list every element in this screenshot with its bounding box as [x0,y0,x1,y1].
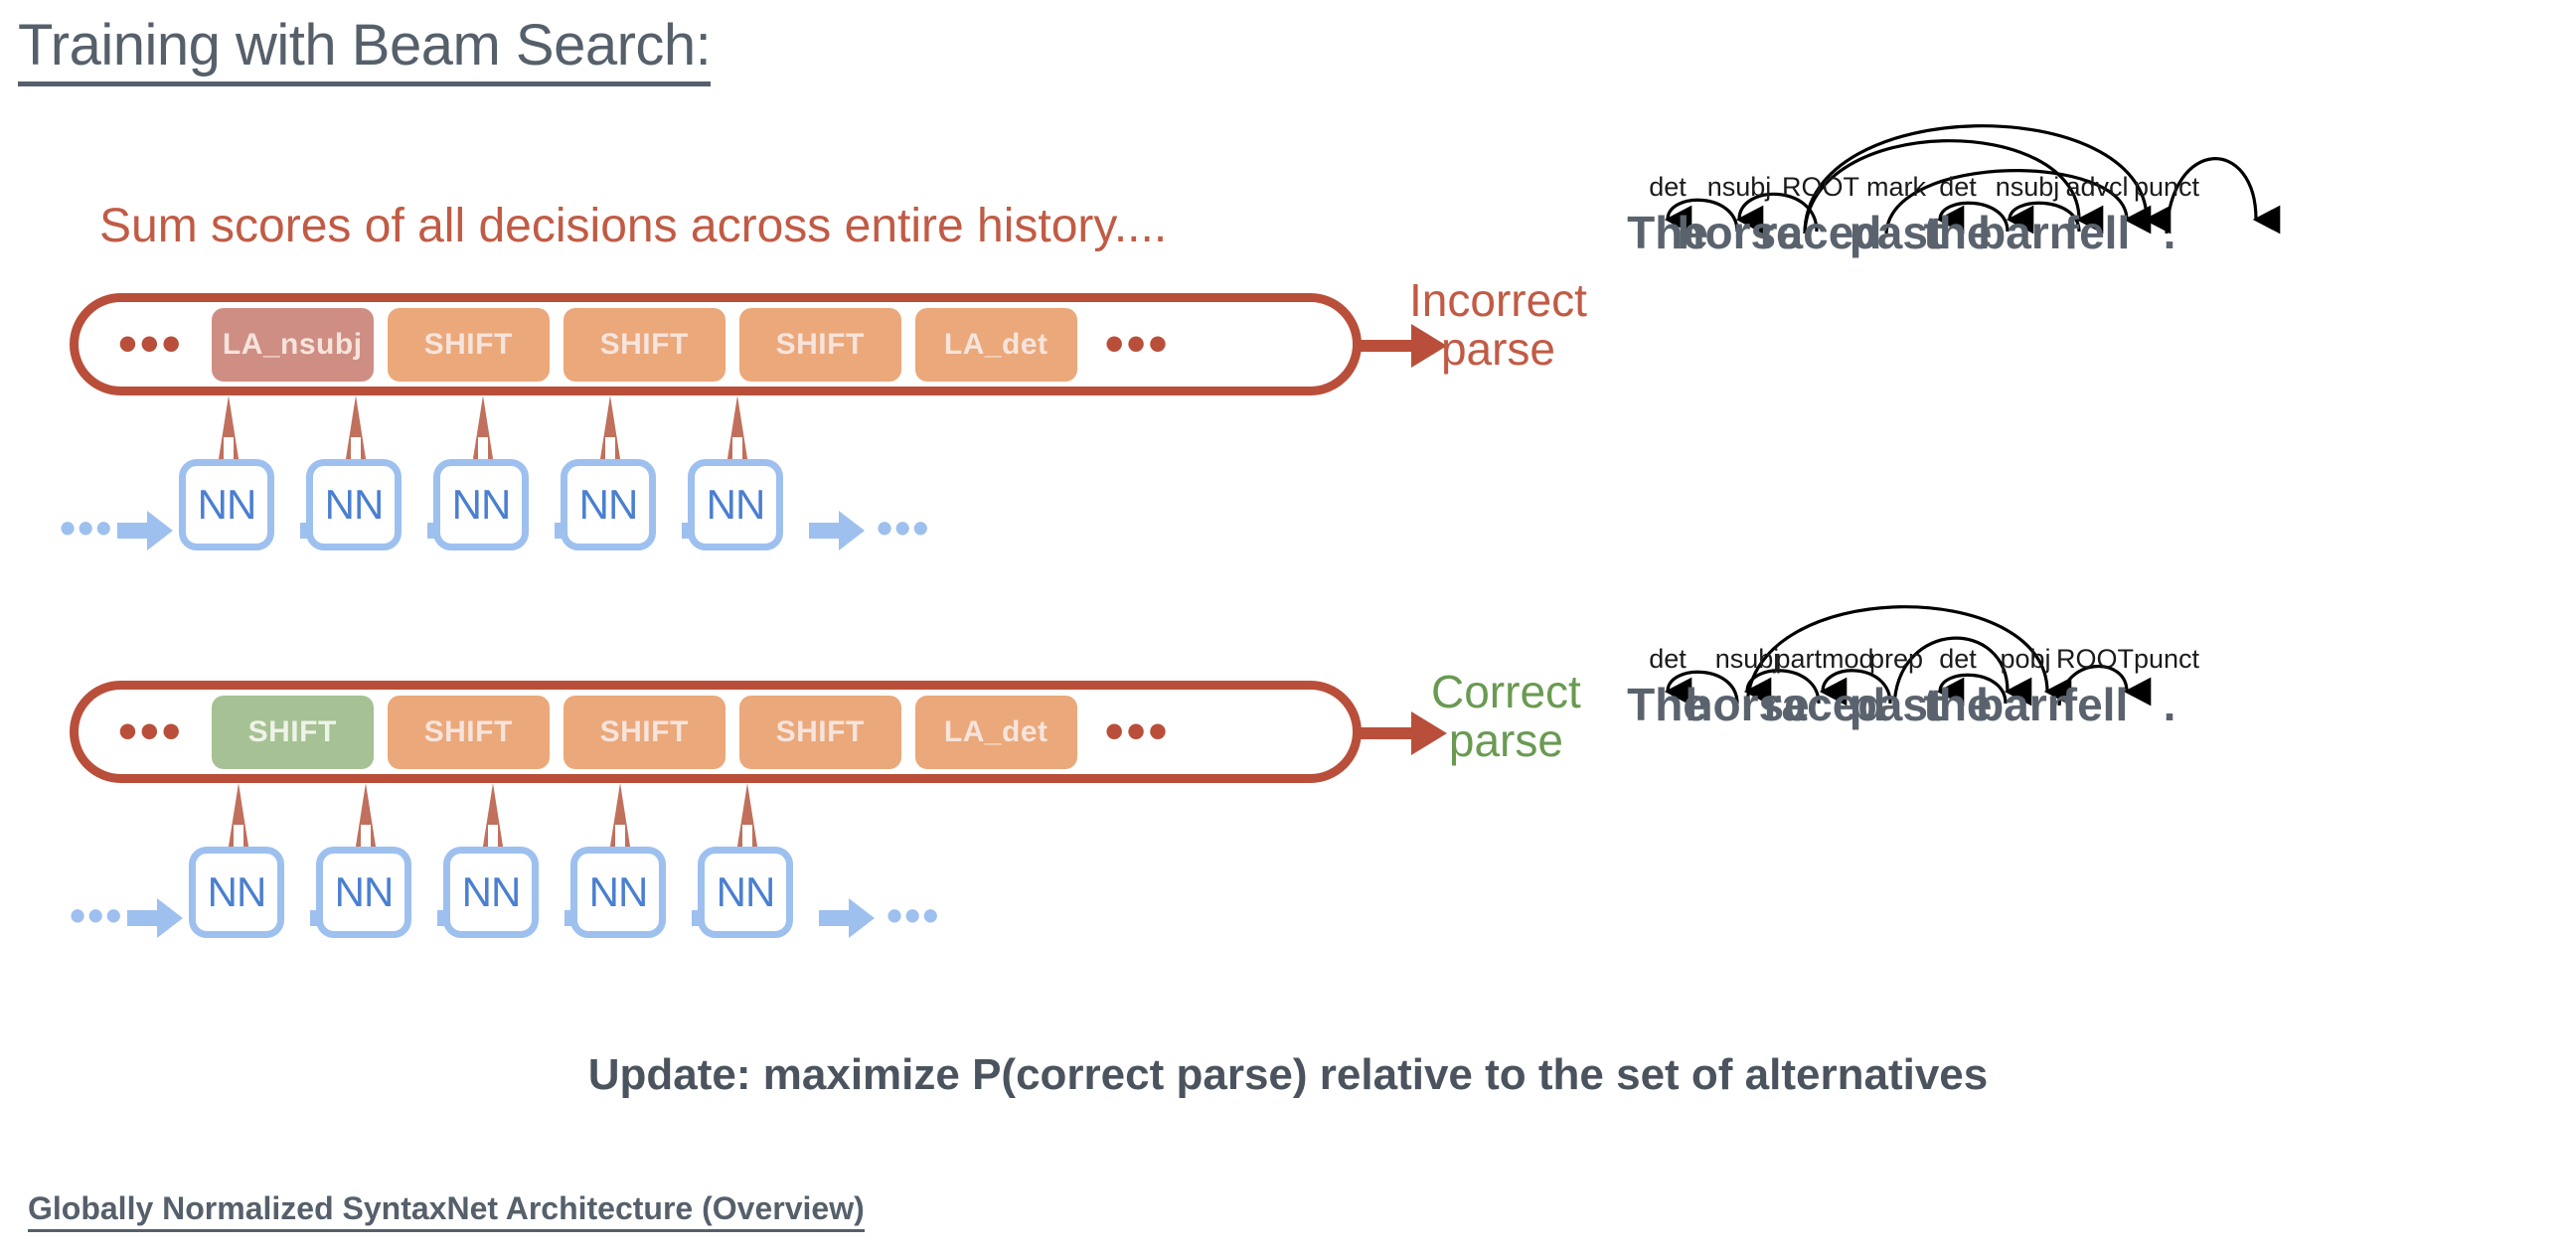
decision-chip[interactable]: SHIFT [388,696,550,769]
parse-word: barn [1978,206,2077,259]
dep-label: punct [2134,644,2199,675]
nn-box[interactable]: NN [561,459,656,550]
nn-chain-incorrect: ••• NN NN NN NN NN ••• [70,437,1381,606]
page-title: Training with Beam Search: [18,12,711,78]
dep-label: nsubj [1996,172,2060,203]
parse-word: fell [2062,678,2128,731]
parse-word: . [2164,678,2176,731]
verdict-correct-line2: parse [1431,716,1581,765]
dep-label: det [1939,644,1977,675]
parse-word: fell [2064,206,2130,259]
nn-box[interactable]: NN [443,847,539,938]
decision-chip[interactable]: LA_det [915,696,1077,769]
page-title-text: Training with Beam Search: [18,13,711,86]
nn-box[interactable]: NN [189,847,284,938]
dep-label: det [1649,644,1687,675]
leading-ellipsis: ••• [118,721,184,743]
decision-chip[interactable]: SHIFT [563,696,725,769]
parse-word: . [2164,206,2176,259]
dependency-parse-correct: det nsubj partmod prep det pobj ROOT pun… [1630,556,2564,825]
decision-chip[interactable]: SHIFT [212,696,374,769]
dep-label: ROOT [2056,644,2134,675]
decision-sequence-incorrect: ••• LA_nsubj SHIFT SHIFT SHIFT LA_det ••… [70,293,1362,395]
dep-label: pobj [2000,644,2050,675]
trailing-ellipsis: ••• [1105,721,1171,743]
dep-label: partmod [1775,644,1873,675]
chip-list-correct: SHIFT SHIFT SHIFT SHIFT LA_det [212,696,1077,769]
verdict-incorrect-line2: parse [1409,325,1587,374]
leading-ellipsis: ••• [118,334,184,356]
dep-label: ROOT [1782,172,1859,203]
dep-label: det [1939,172,1977,203]
footer-caption-text: Globally Normalized SyntaxNet Architectu… [28,1190,865,1232]
nn-box[interactable]: NN [433,459,529,550]
nn-box[interactable]: NN [179,459,274,550]
dep-label: punct [2134,172,2199,203]
dep-label: det [1649,172,1687,203]
decision-sequence-correct: ••• SHIFT SHIFT SHIFT SHIFT LA_det ••• [70,681,1362,783]
parse-word: barn [1976,678,2075,731]
dep-label: mark [1866,172,1926,203]
nn-leading-ellipsis: ••• [70,892,123,938]
nn-box[interactable]: NN [698,847,793,938]
footer-caption: Globally Normalized SyntaxNet Architectu… [28,1190,865,1227]
dep-label: prep [1869,644,1923,675]
nn-box[interactable]: NN [316,847,411,938]
nn-trailing-ellipsis: ••• [886,892,940,938]
nn-box[interactable]: NN [570,847,666,938]
verdict-correct: Correct parse [1431,668,1581,765]
decision-chip[interactable]: SHIFT [739,308,901,382]
trailing-ellipsis: ••• [1105,334,1171,356]
dep-label: nsubj [1707,172,1772,203]
nn-leading-ellipsis: ••• [60,505,113,550]
dep-label: nsubj [1715,644,1780,675]
decision-chip[interactable]: SHIFT [388,308,550,382]
nn-chain-correct: ••• NN NN NN NN NN ••• [80,825,1391,994]
decision-chip[interactable]: LA_nsubj [212,308,374,382]
decision-chip[interactable]: SHIFT [563,308,725,382]
verdict-incorrect-line1: Incorrect [1409,276,1587,325]
verdict-correct-line1: Correct [1431,668,1581,716]
update-caption: Update: maximize P(correct parse) relati… [0,1050,2576,1100]
decision-chip[interactable]: SHIFT [739,696,901,769]
chip-list-incorrect: LA_nsubj SHIFT SHIFT SHIFT LA_det [212,308,1077,382]
sum-scores-caption: Sum scores of all decisions across entir… [99,199,1167,253]
nn-trailing-ellipsis: ••• [877,505,930,550]
nn-box[interactable]: NN [688,459,783,550]
dep-label: advcl [2065,172,2128,203]
decision-chip[interactable]: LA_det [915,308,1077,382]
dependency-parse-incorrect: det nsubj ROOT mark det nsubj advcl punc… [1630,84,2564,353]
nn-box[interactable]: NN [306,459,402,550]
verdict-incorrect: Incorrect parse [1409,276,1587,374]
